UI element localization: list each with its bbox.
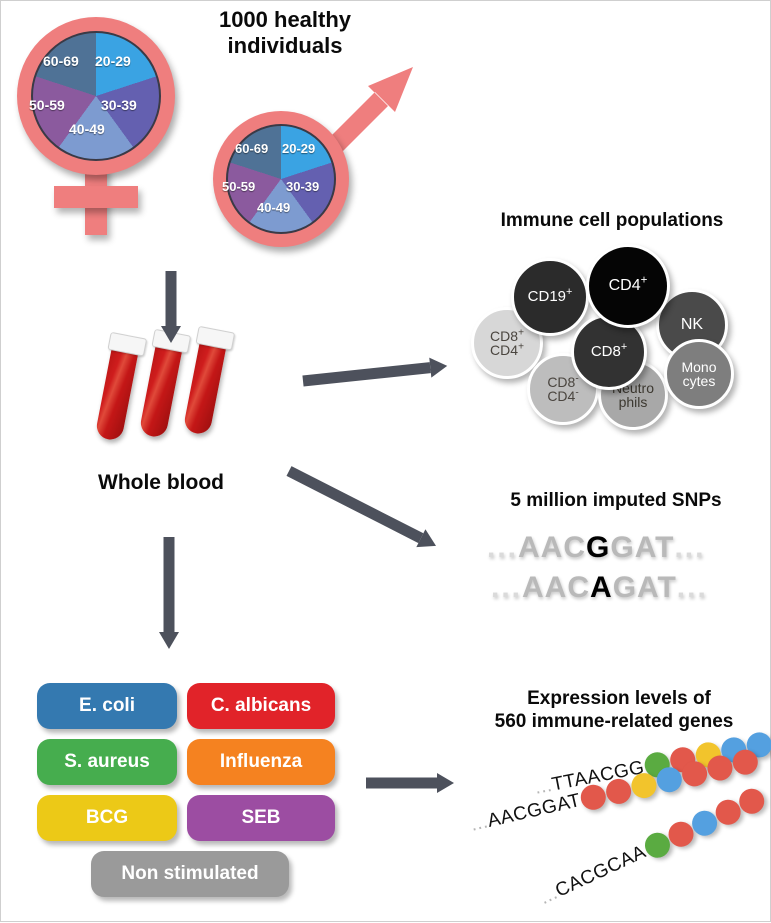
- gene-bead: [711, 796, 744, 829]
- snp-title: 5 million imputed SNPs: [471, 490, 761, 512]
- cohort-title: 1000 healthy individuals: [187, 7, 383, 59]
- snp-suffix: GAT: [613, 571, 677, 604]
- immune-cell-cd19: CD19+: [511, 258, 589, 336]
- strand-lead-ellipsis: ...: [469, 811, 491, 835]
- expression-title-line2: 560 immune-related genes: [459, 711, 769, 733]
- gene-strand-1: ...TTAACGG: [533, 730, 771, 801]
- gene-strand-sequence: ...CACGCAA: [536, 841, 649, 909]
- immune-cell-label: CD4+: [609, 278, 648, 294]
- stimulus-label: BCG: [86, 807, 128, 829]
- snp-sequence-row-1: ...AACGGAT...: [487, 531, 705, 565]
- snp-sequence-group: ...AACGGAT......AACAGAT...: [487, 531, 757, 621]
- snp-ellipsis-right: ...: [677, 571, 708, 604]
- immune-cell-cd8: CD8+: [571, 314, 647, 390]
- gene-bead: [655, 765, 685, 795]
- pie-label-50-59: 50-59: [29, 97, 65, 113]
- snp-ellipsis-left: ...: [491, 571, 522, 604]
- arrow-stimuli-to-expression: [366, 771, 454, 795]
- stimulus-seb[interactable]: SEB: [187, 795, 335, 841]
- pie-label-male-20-29: 20-29: [282, 141, 315, 156]
- immune-cell-neutrophils: Neutrophils: [598, 360, 668, 430]
- gene-bead: [705, 753, 735, 783]
- immune-cell-label: Neutrophils: [612, 381, 654, 410]
- stimulus-s-aureus[interactable]: S. aureus: [37, 739, 177, 785]
- female-gender-symbol: 20-29 30-39 40-49 50-59 60-69: [9, 9, 199, 239]
- immune-cell-label: CD8-CD4-: [547, 375, 578, 404]
- snp-prefix: AAC: [522, 571, 590, 604]
- immune-cell-cd4: CD4+: [586, 244, 670, 328]
- gene-bead: [745, 730, 771, 759]
- female-symbol-cross: [54, 186, 138, 208]
- blood-tube-fill: [183, 334, 228, 435]
- pie-label-male-40-49: 40-49: [257, 200, 290, 215]
- stimulus-label: E. coli: [79, 695, 135, 717]
- snp-prefix: AAC: [518, 531, 586, 564]
- figure-canvas: 1000 healthy individuals 20-29 30-39 40-…: [0, 0, 771, 922]
- blood-tube: [139, 337, 184, 438]
- snp-variant-base: A: [590, 571, 613, 604]
- arrow-blood-to-snp: [284, 460, 442, 556]
- strand-lead-ellipsis: ...: [536, 882, 561, 908]
- immune-cell-cd8-cd4: CD8-CD4-: [527, 353, 599, 425]
- immune-cell-label: CD8+CD4+: [490, 329, 524, 358]
- arrow-blood-to-stimuli: [157, 537, 181, 649]
- gene-bead: [641, 829, 674, 862]
- immune-cell-cd8-cd4: CD8+CD4+: [471, 307, 543, 379]
- gene-bead: [688, 807, 721, 840]
- blood-tube: [95, 340, 140, 441]
- snp-sequence-row-2: ...AACAGAT...: [491, 571, 708, 605]
- blood-tube: [183, 334, 228, 435]
- gene-bead: [643, 750, 672, 779]
- pie-label-male-60-69: 60-69: [235, 141, 268, 156]
- gene-strand-3: ...CACGCAA: [536, 785, 768, 911]
- stimulus-non-stimulated[interactable]: Non stimulated: [91, 851, 289, 897]
- snp-variant-base: G: [586, 531, 610, 564]
- snp-ellipsis-right: ...: [674, 531, 705, 564]
- snp-ellipsis-left: ...: [487, 531, 518, 564]
- gene-bead: [604, 776, 634, 806]
- stimulus-e-coli[interactable]: E. coli: [37, 683, 177, 729]
- gene-strand-sequence: ...AACGGAT: [469, 790, 583, 837]
- gene-bead: [731, 747, 761, 777]
- pie-label-20-29: 20-29: [95, 53, 131, 69]
- stimulus-label: C. albicans: [211, 695, 311, 717]
- immune-cell-label: CD8+: [591, 344, 627, 359]
- gene-strand-sequence: ...TTAACGG: [533, 756, 646, 799]
- pie-label-male-50-59: 50-59: [222, 179, 255, 194]
- blood-tube-fill: [139, 337, 184, 438]
- stimulus-label: S. aureus: [64, 751, 150, 773]
- immune-cell-populations-title: Immune cell populations: [459, 210, 765, 232]
- gene-bead: [664, 818, 697, 851]
- whole-blood-label: Whole blood: [61, 471, 261, 496]
- whole-blood-tubes: [109, 333, 249, 453]
- expression-title-line1: Expression levels of: [471, 688, 767, 710]
- stimulus-label: Non stimulated: [121, 863, 258, 885]
- immune-cell-nk: NK: [656, 289, 728, 361]
- stimulus-label: Influenza: [220, 751, 302, 773]
- snp-suffix: GAT: [610, 531, 674, 564]
- pie-label-40-49: 40-49: [69, 121, 105, 137]
- gene-strand-2: ...AACGGAT: [468, 747, 760, 838]
- pie-label-60-69: 60-69: [43, 53, 79, 69]
- gene-bead: [694, 740, 723, 769]
- immune-cell-label: Monocytes: [681, 360, 716, 389]
- stimulus-c-albicans[interactable]: C. albicans: [187, 683, 335, 729]
- gene-bead: [668, 745, 697, 774]
- male-gender-symbol: 20-29 30-39 40-49 50-59 60-69: [207, 63, 419, 248]
- arrow-blood-to-immune: [302, 354, 449, 393]
- gene-bead: [629, 771, 659, 801]
- gene-bead: [719, 735, 748, 764]
- gene-bead: [579, 782, 609, 812]
- immune-cell-monocytes: Monocytes: [664, 339, 734, 409]
- pie-label-male-30-39: 30-39: [286, 179, 319, 194]
- stimulus-influenza[interactable]: Influenza: [187, 739, 335, 785]
- immune-cell-label: NK: [681, 317, 703, 333]
- blood-tube-fill: [95, 340, 140, 441]
- gene-bead: [680, 759, 710, 789]
- gene-bead: [735, 785, 768, 818]
- strand-lead-ellipsis: ...: [533, 774, 554, 798]
- stimulus-bcg[interactable]: BCG: [37, 795, 177, 841]
- immune-cell-label: CD19+: [528, 289, 573, 304]
- female-age-pie-chart: [31, 31, 161, 161]
- pie-label-30-39: 30-39: [101, 97, 137, 113]
- stimulus-label: SEB: [241, 807, 280, 829]
